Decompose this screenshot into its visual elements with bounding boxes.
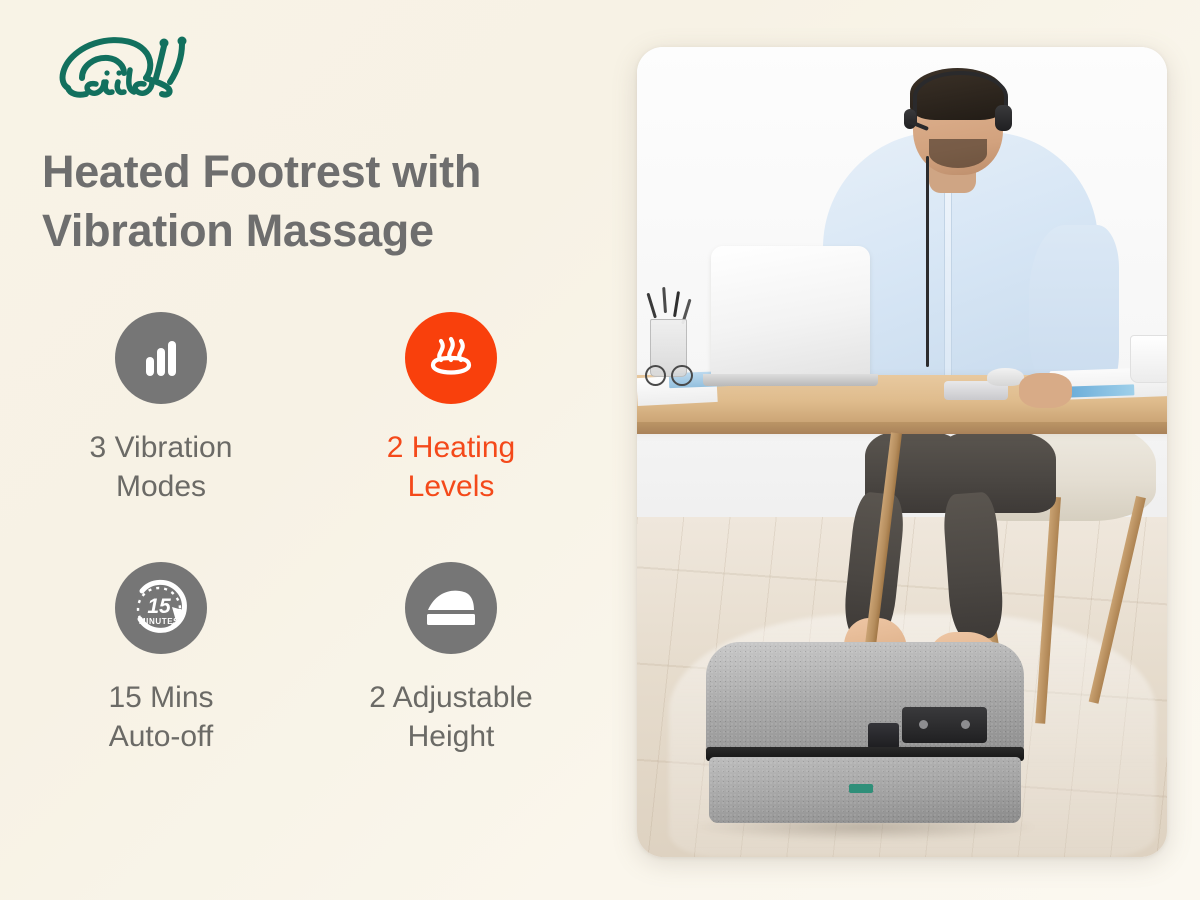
feature-heating-label-line-2: Levels	[387, 467, 515, 506]
feature-adjustable-height-label-line-2: Height	[369, 717, 532, 756]
heat-steam-icon	[405, 312, 497, 404]
eyeglasses	[645, 365, 693, 386]
feature-adjustable-height-label-line-1: 2 Adjustable	[369, 678, 532, 717]
feature-heating-label-line-1: 2 Heating	[387, 428, 515, 467]
person-beard	[929, 139, 987, 168]
feature-auto-off-timer: 15 MINUTES 15 Mins Auto-off	[26, 562, 296, 812]
feature-vibration-label-line-1: 3 Vibration	[90, 428, 233, 467]
feature-vibration-modes: 3 Vibration Modes	[26, 312, 296, 562]
feature-auto-off-label: 15 Mins Auto-off	[108, 678, 213, 756]
feature-grid: 3 Vibration Modes 2 Heating Levels	[26, 312, 586, 812]
feature-vibration-label: 3 Vibration Modes	[90, 428, 233, 506]
white-laptop-base	[703, 374, 878, 386]
vibration-bars-icon	[115, 312, 207, 404]
page-title-line-2: Vibration Massage	[42, 201, 602, 260]
timer-icon-number: 15	[147, 595, 171, 618]
footrest-power-port	[868, 723, 900, 749]
left-info-panel: Heated Footrest with Vibration Massage 3…	[0, 0, 612, 900]
feature-heating-label: 2 Heating Levels	[387, 428, 515, 506]
headset-headband	[913, 71, 1008, 123]
footrest-control-panel	[902, 707, 987, 743]
page-title-line-1: Heated Footrest with	[42, 142, 602, 201]
adjustable-height-footrest-icon	[405, 562, 497, 654]
footrest-mode-button[interactable]	[961, 720, 970, 729]
headset-earcup	[995, 105, 1012, 131]
page-title: Heated Footrest with Vibration Massage	[42, 142, 602, 261]
feature-adjustable-height-label: 2 Adjustable Height	[369, 678, 532, 756]
feature-vibration-label-line-2: Modes	[90, 467, 233, 506]
feature-auto-off-label-line-1: 15 Mins	[108, 678, 213, 717]
timer-icon-unit: MINUTES	[139, 617, 179, 626]
snail-logo	[52, 26, 202, 102]
footrest-brand-tag	[849, 784, 873, 793]
footrest-power-button[interactable]	[919, 720, 928, 729]
product-photo-card	[637, 47, 1167, 857]
computer-mouse	[987, 368, 1024, 386]
white-laptop-lid	[711, 246, 870, 378]
timer-15-minutes-icon: 15 MINUTES	[115, 562, 207, 654]
eyeglasses-lens	[645, 365, 666, 386]
person-hand-on-mouse	[1019, 373, 1072, 409]
feature-heating-levels: 2 Heating Levels	[316, 312, 586, 562]
feature-auto-off-label-line-2: Auto-off	[108, 717, 213, 756]
eyeglasses-lens	[671, 365, 692, 386]
lifestyle-photo	[637, 47, 1167, 857]
coffee-mug	[1130, 335, 1167, 384]
wooden-desk-edge	[637, 422, 1167, 434]
headset-cord	[926, 156, 929, 367]
feature-adjustable-height: 2 Adjustable Height	[316, 562, 586, 812]
shirt-placket	[944, 169, 952, 396]
